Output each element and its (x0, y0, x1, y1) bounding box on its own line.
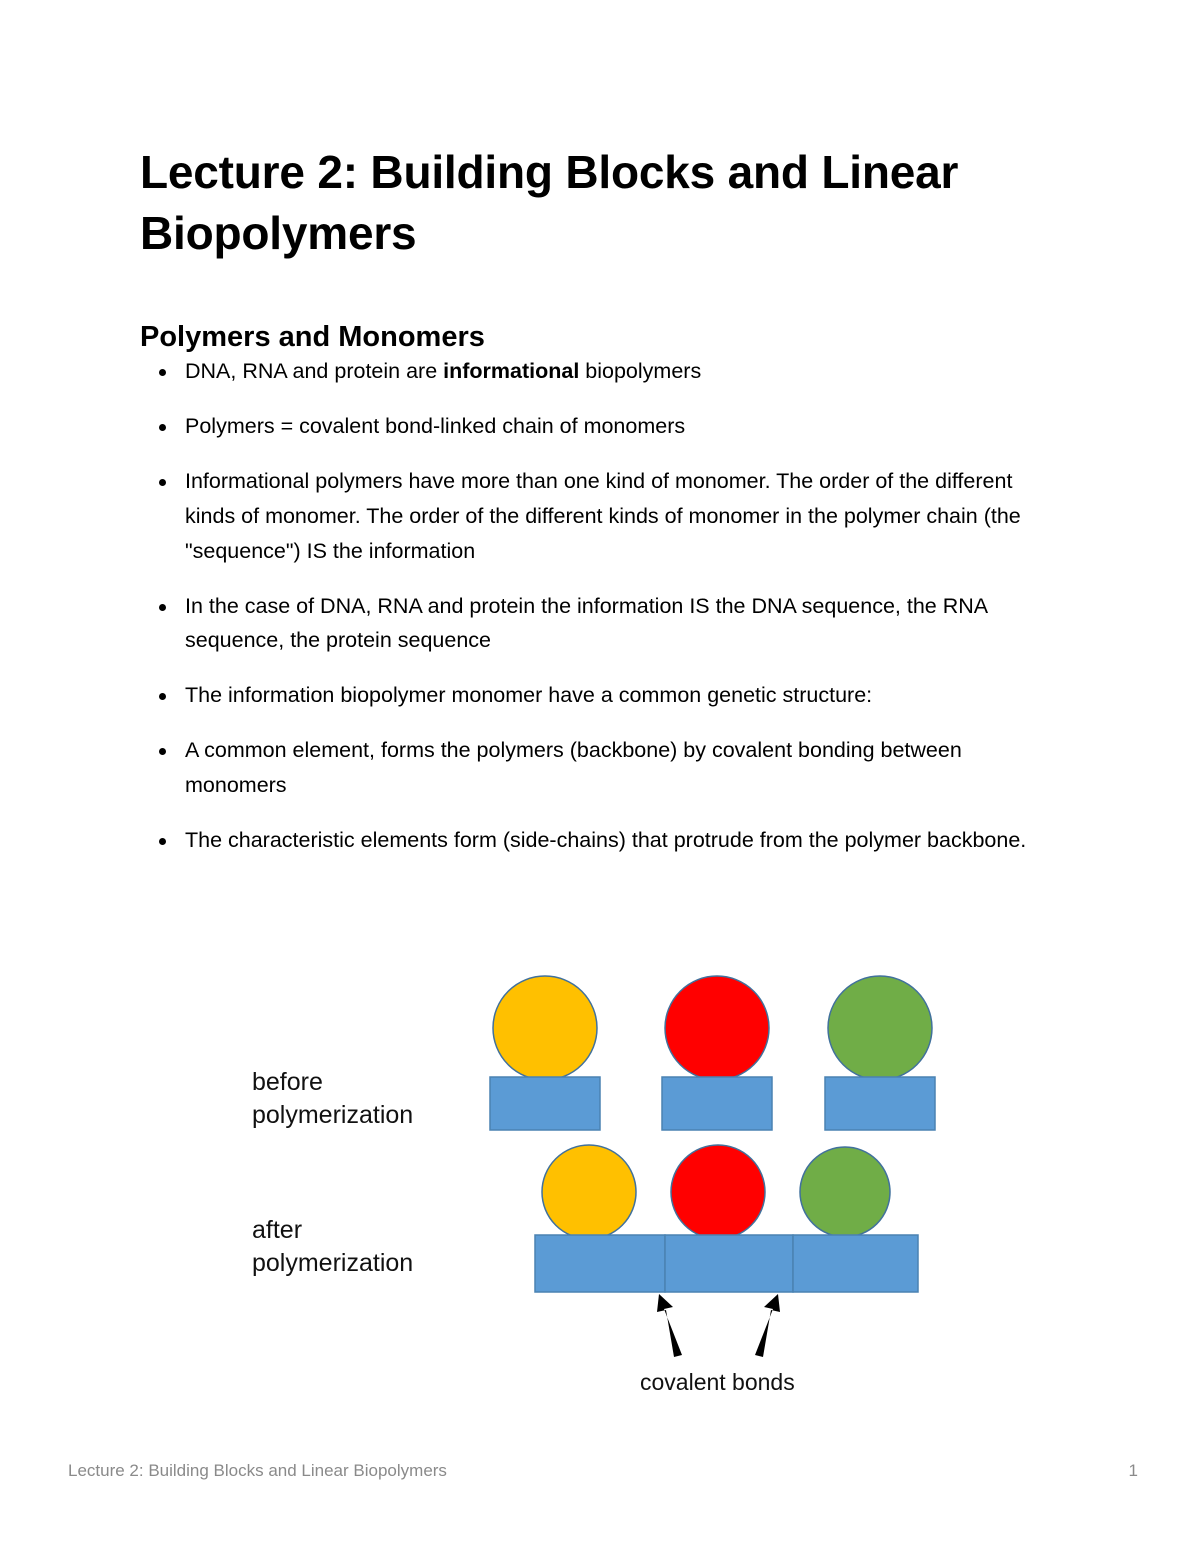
backbone-block-3-after (793, 1235, 918, 1292)
list-item: Informational polymers have more than on… (140, 464, 1060, 568)
bullet-list-primary: DNA, RNA and protein are informational b… (140, 354, 1060, 658)
bullet-dot-icon (159, 693, 166, 700)
backbone-block-3-before (825, 1077, 935, 1130)
covalent-bond-annotation: covalent bonds (640, 1294, 795, 1395)
footer-page-number: 1 (1129, 1461, 1138, 1481)
bullet-dot-icon (159, 479, 166, 486)
arrow-right-icon (755, 1294, 780, 1357)
bullet-dot-icon (159, 369, 166, 376)
backbone-block-2-after (665, 1235, 793, 1292)
bullet-dot-icon (159, 604, 166, 611)
bullet-dot-icon (159, 748, 166, 755)
list-item: The characteristic elements form (side-c… (140, 823, 1060, 858)
monomer-circle-green-after (800, 1147, 890, 1237)
before-label-line2: polymerization (252, 1101, 413, 1129)
monomer-circle-green-before (828, 976, 932, 1080)
list-item-text-pre: Informational polymers have more than on… (185, 469, 1021, 563)
after-label-line2: polymerization (252, 1249, 413, 1277)
list-item-text-pre: Polymers = covalent bond-linked chain of… (185, 414, 685, 438)
monomer-circle-red-before (665, 976, 769, 1080)
list-item: In the case of DNA, RNA and protein the … (140, 589, 1060, 659)
list-item-text-pre: In the case of DNA, RNA and protein the … (185, 594, 987, 653)
polymerization-diagram: before polymerization after polymerizati… (240, 960, 960, 1410)
list-item: A common element, forms the polymers (ba… (140, 733, 1060, 803)
covalent-bonds-label: covalent bonds (640, 1369, 795, 1395)
after-label-line1: after (252, 1216, 302, 1244)
list-item-text-pre: The characteristic elements form (side-c… (185, 828, 1026, 852)
backbone-block-1-before (490, 1077, 600, 1130)
list-item-text-pre: DNA, RNA and protein are (185, 359, 443, 383)
before-polymerization-row: before polymerization (252, 976, 935, 1130)
list-item: The information biopolymer monomer have … (140, 678, 1060, 713)
list-item-text-bold: informational (443, 359, 579, 383)
list-item-text-pre: A common element, forms the polymers (ba… (185, 738, 962, 797)
document-content: Lecture 2: Building Blocks and Linear Bi… (140, 0, 1060, 878)
page-title: Lecture 2: Building Blocks and Linear Bi… (140, 0, 1060, 263)
list-item-text-pre: The information biopolymer monomer have … (185, 683, 872, 707)
monomer-circle-red-after (671, 1145, 765, 1239)
list-item-text-post: biopolymers (579, 359, 701, 383)
backbone-block-2-before (662, 1077, 772, 1130)
monomer-circle-yellow-after (542, 1145, 636, 1239)
page-footer: Lecture 2: Building Blocks and Linear Bi… (68, 1461, 1138, 1481)
before-label-line1: before (252, 1068, 323, 1096)
monomer-circle-yellow-before (493, 976, 597, 1080)
bullet-dot-icon (159, 838, 166, 845)
document-page: Lecture 2: Building Blocks and Linear Bi… (0, 0, 1200, 1553)
bullet-list-secondary: The information biopolymer monomer have … (140, 678, 1060, 857)
list-item: Polymers = covalent bond-linked chain of… (140, 409, 1060, 444)
bullet-dot-icon (159, 424, 166, 431)
arrow-left-icon (657, 1294, 682, 1357)
list-item: DNA, RNA and protein are informational b… (140, 354, 1060, 389)
after-polymerization-row: after polymerization (252, 1145, 918, 1292)
backbone-block-1-after (535, 1235, 665, 1292)
section-heading: Polymers and Monomers (140, 263, 1060, 354)
footer-title: Lecture 2: Building Blocks and Linear Bi… (68, 1461, 447, 1481)
